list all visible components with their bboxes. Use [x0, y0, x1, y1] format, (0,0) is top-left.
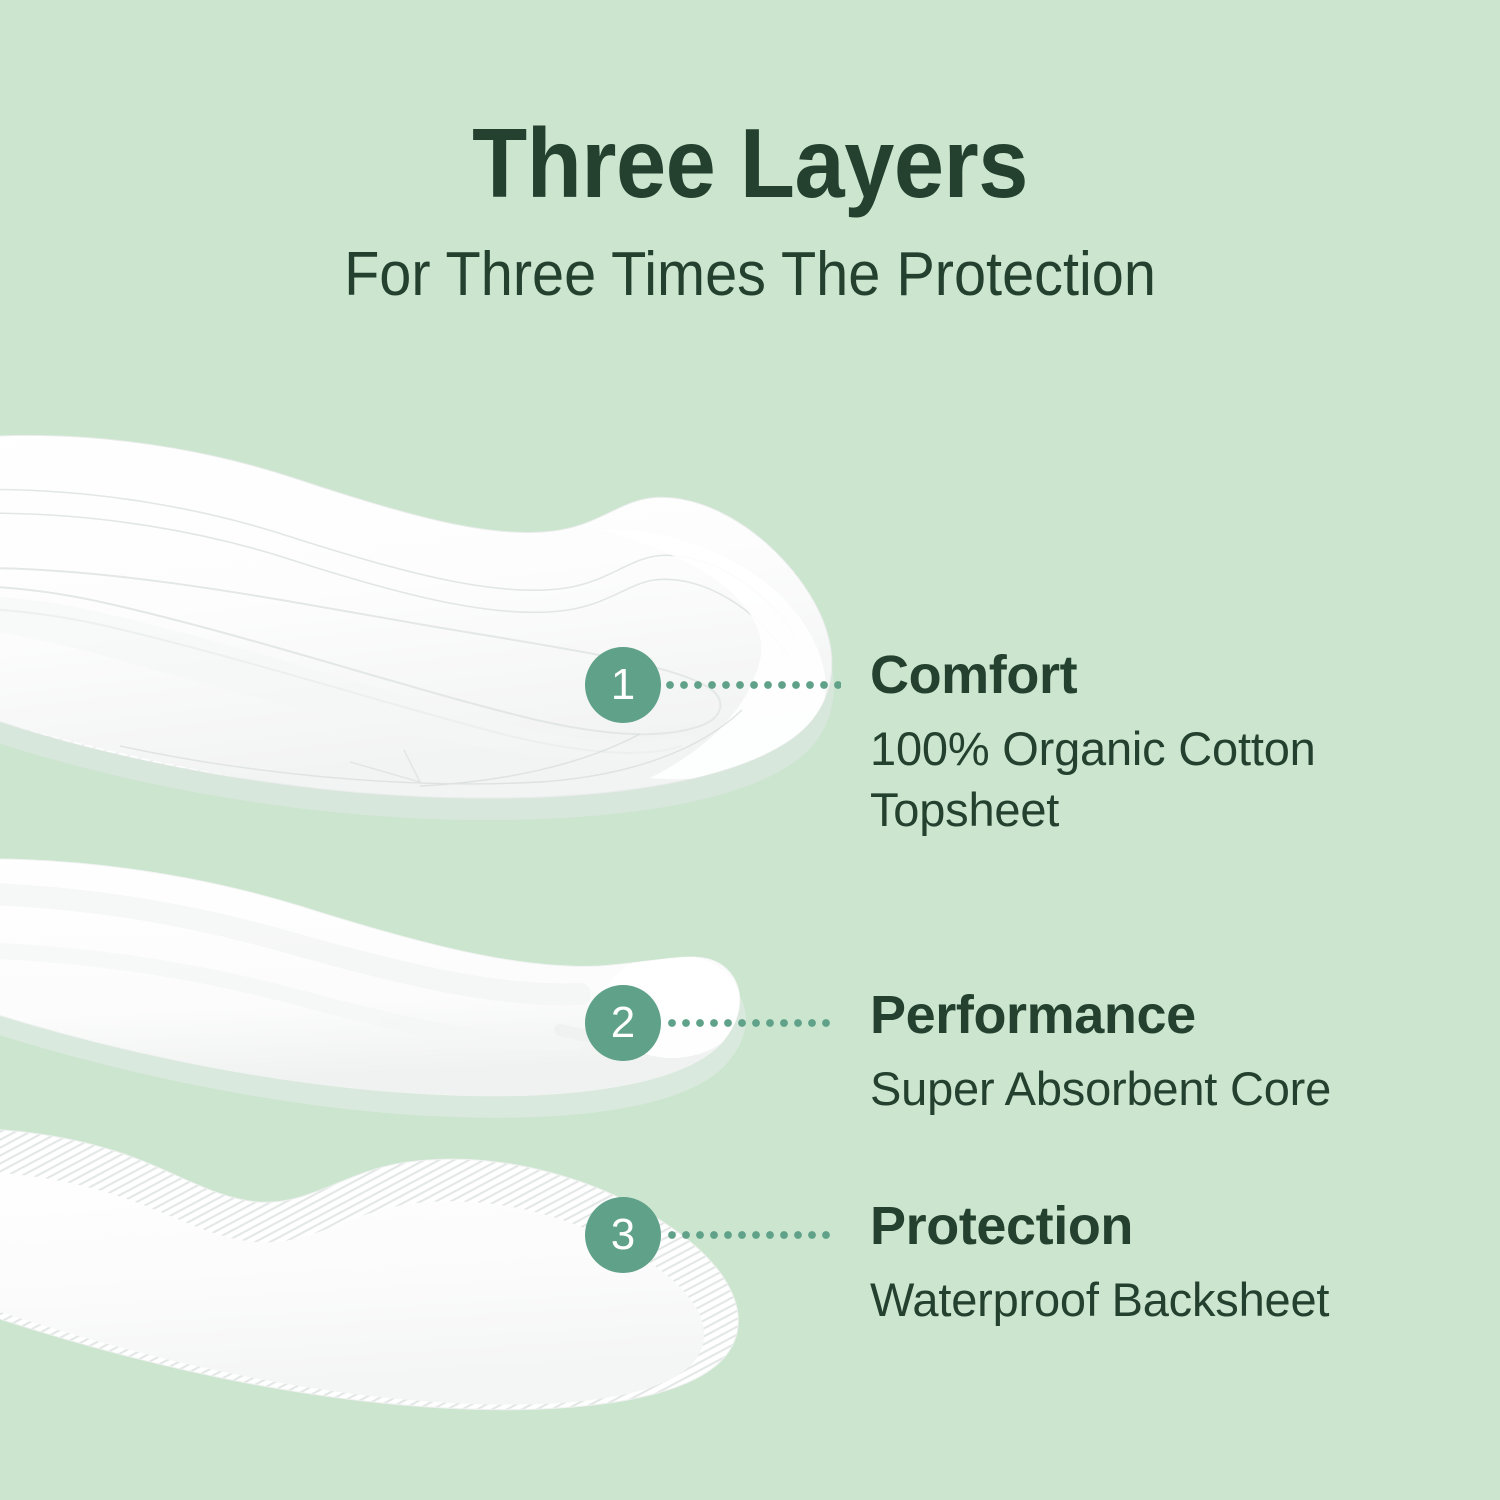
layer-number-badge-3: 3 [585, 1197, 661, 1273]
callout-layer-3: 3 [585, 1197, 833, 1273]
layer-title-3: Protection [870, 1196, 1329, 1256]
layer-title-1: Comfort [870, 645, 1470, 705]
leader-line-2 [667, 1018, 833, 1028]
layer-description-1: 100% Organic Cotton Topsheet [870, 705, 1470, 839]
heading-block: Three Layers For Three Times The Protect… [0, 0, 1500, 309]
layer-topsheet [0, 435, 834, 850]
callout-text-layer-1: Comfort 100% Organic Cotton Topsheet [870, 645, 1470, 840]
callout-text-layer-3: Protection Waterproof Backsheet [870, 1196, 1329, 1331]
layer-description-3: Waterproof Backsheet [870, 1256, 1329, 1330]
layer-description-2: Super Absorbent Core [870, 1045, 1331, 1119]
callout-layer-1: 1 [585, 647, 841, 723]
leader-line-1 [665, 680, 841, 690]
callout-layer-2: 2 [585, 985, 833, 1061]
leader-line-3 [667, 1230, 833, 1240]
product-illustration [0, 330, 900, 1500]
layer-title-2: Performance [870, 985, 1331, 1045]
layer-number-badge-2: 2 [585, 985, 661, 1061]
layer-number-badge-1: 1 [585, 647, 661, 723]
callout-text-layer-2: Performance Super Absorbent Core [870, 985, 1331, 1120]
page-title: Three Layers [60, 0, 1440, 215]
three-layers-infographic: Three Layers For Three Times The Protect… [0, 0, 1500, 1500]
page-subtitle: For Three Times The Protection [53, 215, 1448, 309]
layer-backsheet [0, 1128, 800, 1470]
